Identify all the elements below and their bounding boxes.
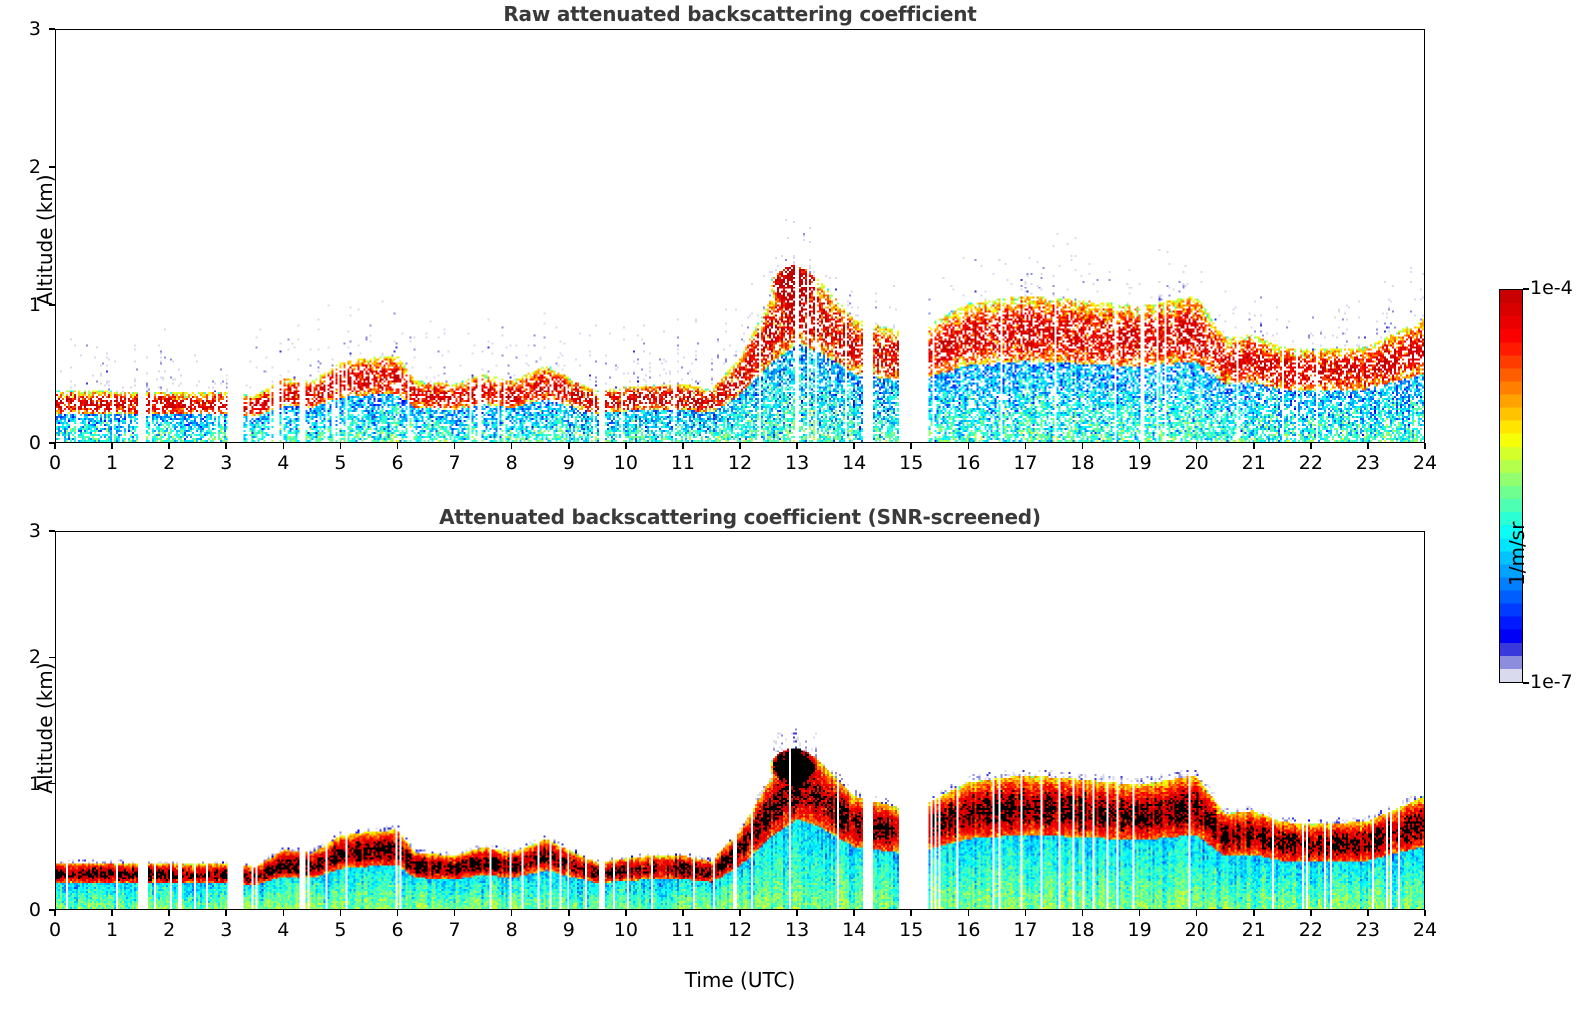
- x-tick-label-bottom: 13: [785, 919, 809, 941]
- x-tick-bottom: [111, 910, 113, 916]
- x-tick-bottom: [1139, 910, 1141, 916]
- x-tick-top: [1367, 443, 1369, 449]
- x-tick-label-bottom: 4: [277, 919, 289, 941]
- x-tick-bottom: [968, 910, 970, 916]
- x-tick-bottom: [625, 910, 627, 916]
- x-tick-label-bottom: 7: [449, 919, 461, 941]
- x-tick-label-bottom: 3: [220, 919, 232, 941]
- x-tick-label-top: 17: [1013, 452, 1037, 474]
- y-tick-label-bottom: 1: [7, 773, 41, 795]
- x-tick-label-top: 2: [163, 452, 175, 474]
- x-axis-label: Time (UTC): [55, 968, 1425, 992]
- x-tick-bottom: [454, 910, 456, 916]
- x-tick-label-bottom: 5: [334, 919, 346, 941]
- x-tick-top: [1025, 443, 1027, 449]
- x-tick-bottom: [1424, 910, 1426, 916]
- x-tick-label-top: 22: [1299, 452, 1323, 474]
- y-tick-top: [49, 166, 55, 168]
- x-tick-top: [283, 443, 285, 449]
- y-tick-label-top: 2: [7, 156, 41, 178]
- x-tick-bottom: [853, 910, 855, 916]
- x-tick-top: [682, 443, 684, 449]
- heatmap-raw: [56, 30, 1424, 442]
- x-tick-bottom: [1082, 910, 1084, 916]
- x-tick-label-bottom: 1: [106, 919, 118, 941]
- x-tick-label-bottom: 15: [899, 919, 923, 941]
- x-tick-top: [1310, 443, 1312, 449]
- x-tick-top: [225, 443, 227, 449]
- x-tick-bottom: [1367, 910, 1369, 916]
- x-tick-label-top: 0: [49, 452, 61, 474]
- x-tick-label-top: 5: [334, 452, 346, 474]
- x-tick-top: [511, 443, 513, 449]
- x-tick-bottom: [1253, 910, 1255, 916]
- heatmap-screened: [56, 532, 1424, 909]
- plot-area-raw[interactable]: [55, 29, 1425, 443]
- x-tick-label-top: 9: [563, 452, 575, 474]
- y-tick-label-top: 1: [7, 294, 41, 316]
- x-tick-label-bottom: 12: [728, 919, 752, 941]
- x-tick-label-bottom: 22: [1299, 919, 1323, 941]
- x-tick-top: [168, 443, 170, 449]
- x-tick-label-bottom: 0: [49, 919, 61, 941]
- x-tick-label-bottom: 8: [506, 919, 518, 941]
- plot-area-screened[interactable]: [55, 531, 1425, 910]
- x-tick-top: [340, 443, 342, 449]
- x-tick-label-bottom: 14: [842, 919, 866, 941]
- panel-title-raw: Raw attenuated backscattering coefficien…: [55, 2, 1425, 26]
- x-tick-bottom: [283, 910, 285, 916]
- x-tick-label-top: 12: [728, 452, 752, 474]
- panel-title-screened: Attenuated backscattering coefficient (S…: [55, 505, 1425, 529]
- figure-canvas: Raw attenuated backscattering coefficien…: [0, 0, 1595, 1020]
- x-tick-label-bottom: 16: [956, 919, 980, 941]
- colorbar-axis-label: 1/m/sr: [1505, 386, 1529, 586]
- x-tick-label-top: 19: [1127, 452, 1151, 474]
- x-tick-bottom: [54, 910, 56, 916]
- x-tick-label-top: 16: [956, 452, 980, 474]
- x-tick-label-top: 11: [671, 452, 695, 474]
- x-tick-label-top: 13: [785, 452, 809, 474]
- x-tick-top: [1253, 443, 1255, 449]
- y-tick-bottom: [49, 657, 55, 659]
- x-tick-top: [1196, 443, 1198, 449]
- x-tick-label-bottom: 11: [671, 919, 695, 941]
- x-tick-label-top: 10: [614, 452, 638, 474]
- x-tick-label-top: 3: [220, 452, 232, 474]
- y-tick-top: [49, 442, 55, 444]
- colorbar-max-label: 1e-4: [1530, 277, 1573, 299]
- x-tick-label-top: 7: [449, 452, 461, 474]
- y-tick-top: [49, 304, 55, 306]
- x-tick-bottom: [225, 910, 227, 916]
- y-tick-bottom: [49, 530, 55, 532]
- x-tick-top: [397, 443, 399, 449]
- x-tick-label-bottom: 17: [1013, 919, 1037, 941]
- y-tick-bottom: [49, 783, 55, 785]
- x-tick-top: [454, 443, 456, 449]
- x-tick-top: [1424, 443, 1426, 449]
- x-tick-label-top: 6: [391, 452, 403, 474]
- x-tick-top: [1139, 443, 1141, 449]
- x-tick-bottom: [796, 910, 798, 916]
- x-tick-label-top: 18: [1070, 452, 1094, 474]
- y-tick-label-bottom: 2: [7, 646, 41, 668]
- x-tick-top: [1082, 443, 1084, 449]
- y-tick-bottom: [49, 909, 55, 911]
- x-tick-label-top: 1: [106, 452, 118, 474]
- x-tick-label-bottom: 2: [163, 919, 175, 941]
- x-tick-label-bottom: 10: [614, 919, 638, 941]
- x-tick-label-bottom: 24: [1413, 919, 1437, 941]
- y-tick-top: [49, 28, 55, 30]
- x-tick-bottom: [340, 910, 342, 916]
- x-tick-label-top: 24: [1413, 452, 1437, 474]
- y-tick-label-bottom: 0: [7, 899, 41, 921]
- x-tick-label-top: 14: [842, 452, 866, 474]
- x-tick-top: [568, 443, 570, 449]
- x-tick-bottom: [910, 910, 912, 916]
- x-tick-top: [739, 443, 741, 449]
- x-tick-label-top: 4: [277, 452, 289, 474]
- x-tick-bottom: [1196, 910, 1198, 916]
- x-tick-bottom: [682, 910, 684, 916]
- x-tick-bottom: [397, 910, 399, 916]
- x-tick-label-top: 20: [1185, 452, 1209, 474]
- x-tick-label-bottom: 9: [563, 919, 575, 941]
- y-tick-label-bottom: 3: [7, 520, 41, 542]
- x-tick-bottom: [568, 910, 570, 916]
- x-tick-top: [853, 443, 855, 449]
- x-tick-top: [796, 443, 798, 449]
- x-tick-label-bottom: 23: [1356, 919, 1380, 941]
- colorbar-tick-max: [1523, 288, 1529, 290]
- x-tick-label-bottom: 21: [1242, 919, 1266, 941]
- x-tick-bottom: [1025, 910, 1027, 916]
- x-tick-label-bottom: 6: [391, 919, 403, 941]
- y-tick-label-top: 3: [7, 18, 41, 40]
- x-tick-bottom: [739, 910, 741, 916]
- x-tick-label-top: 21: [1242, 452, 1266, 474]
- x-tick-top: [968, 443, 970, 449]
- x-tick-label-bottom: 18: [1070, 919, 1094, 941]
- x-tick-label-bottom: 19: [1127, 919, 1151, 941]
- x-tick-top: [111, 443, 113, 449]
- colorbar-tick-min: [1523, 682, 1529, 684]
- x-tick-top: [54, 443, 56, 449]
- x-tick-bottom: [168, 910, 170, 916]
- x-tick-bottom: [511, 910, 513, 916]
- x-tick-bottom: [1310, 910, 1312, 916]
- x-tick-label-top: 15: [899, 452, 923, 474]
- y-tick-label-top: 0: [7, 432, 41, 454]
- x-tick-label-bottom: 20: [1185, 919, 1209, 941]
- x-tick-top: [625, 443, 627, 449]
- colorbar-min-label: 1e-7: [1530, 671, 1573, 693]
- x-tick-label-top: 23: [1356, 452, 1380, 474]
- x-tick-label-top: 8: [506, 452, 518, 474]
- x-tick-top: [910, 443, 912, 449]
